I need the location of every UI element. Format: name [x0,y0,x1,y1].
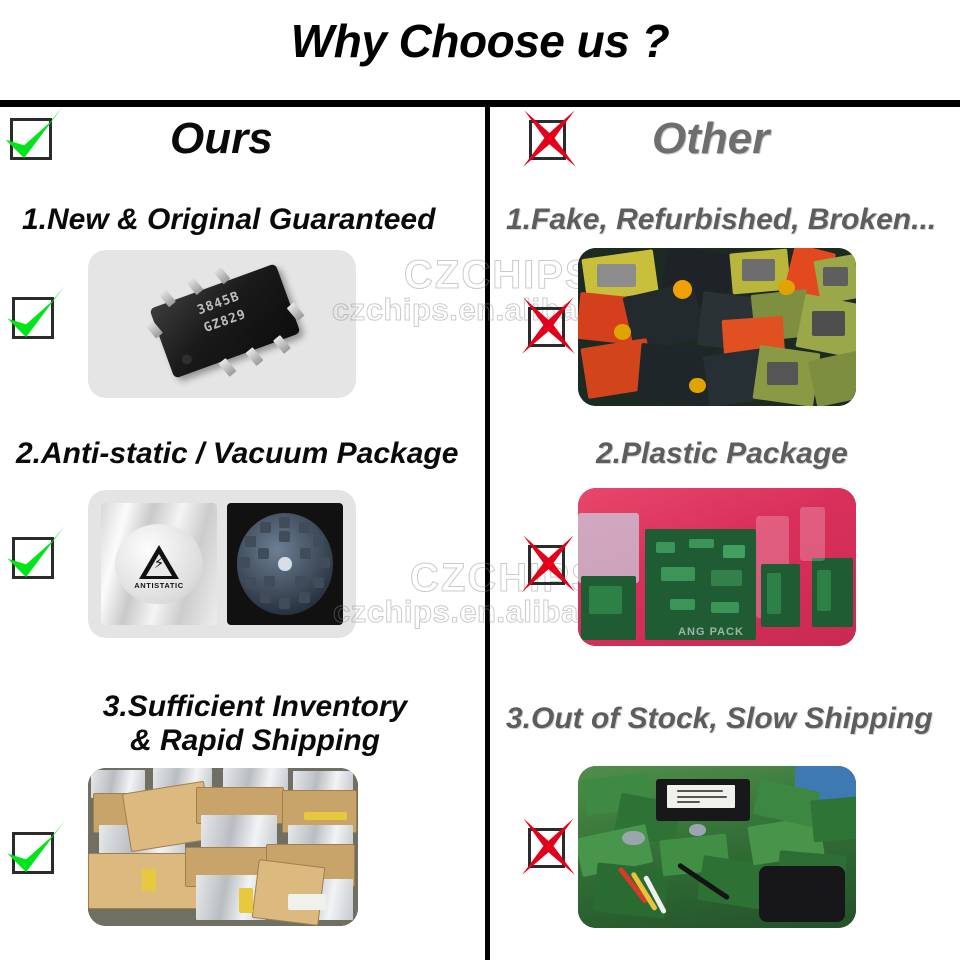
photo-ours-1: 3845B GZ829 [88,250,356,398]
cross-icon [517,811,580,881]
column-cross-mark-other [529,120,566,160]
column-check-mark-ours [10,118,52,160]
cross-icon [517,290,580,360]
vacuum-reel-box [227,503,342,624]
item-title-other-2: 2.Plastic Package [596,437,956,471]
cross-mark-other-3 [528,828,565,868]
chip-body: 3845B GZ829 [149,263,300,378]
check-mark-ours-2 [12,537,54,579]
page-title: Why Choose us ? [0,14,960,68]
photo-other-2: ANG PACK [578,488,856,646]
bag-disc: ⚡ ANTISTATIC [115,524,203,604]
check-icon [0,100,69,174]
column-header-ours: Ours [170,108,273,170]
item-title-ours-3: 3.Sufficient Inventory & Rapid Shipping [60,690,450,757]
black-module [656,779,751,821]
check-mark-ours-1 [12,297,54,339]
carton-boxes [88,768,358,926]
cross-icon [517,528,580,598]
photo-ours-3 [88,768,358,926]
lightning-bolt-icon: ⚡ [154,556,165,571]
item-title-ours-1: 1.New & Original Guaranteed [22,203,472,237]
chip-marking-text: 3845B GZ829 [153,273,292,354]
antistatic-bag: ⚡ ANTISTATIC [101,503,216,624]
item-title-ours-2: 2.Anti-static / Vacuum Package [16,437,486,471]
cross-mark-other-2 [528,545,565,585]
column-divider-line [485,107,490,960]
component-reel [237,513,334,615]
photo-ours-2: ⚡ ANTISTATIC [88,490,356,638]
scrap-chip-pile [578,248,856,406]
item-title-other-1: 1.Fake, Refurbished, Broken... [506,203,956,237]
package-brand-text: ANG PACK [678,626,744,638]
cross-icon [518,103,581,173]
pink-plastic-bags: ANG PACK [578,488,856,646]
column-header-other: Other [652,108,769,170]
module-label [667,785,735,809]
green-scrap-heap [578,766,856,928]
check-icon [0,814,71,888]
check-icon [0,279,71,353]
check-icon [0,519,71,593]
why-choose-us-infographic: Why Choose us ? Ours Other 1.New & Origi… [0,0,960,960]
black-pad [759,866,845,921]
photo-other-1 [578,248,856,406]
item-title-other-3: 3.Out of Stock, Slow Shipping [506,702,956,736]
check-mark-ours-3 [12,832,54,874]
photo-other-3 [578,766,856,928]
reel-hub [278,557,292,571]
antistatic-label: ANTISTATIC [115,581,203,590]
cross-mark-other-1 [528,307,565,347]
header-divider-line [0,100,960,107]
chip-pin1-dot [180,353,193,366]
